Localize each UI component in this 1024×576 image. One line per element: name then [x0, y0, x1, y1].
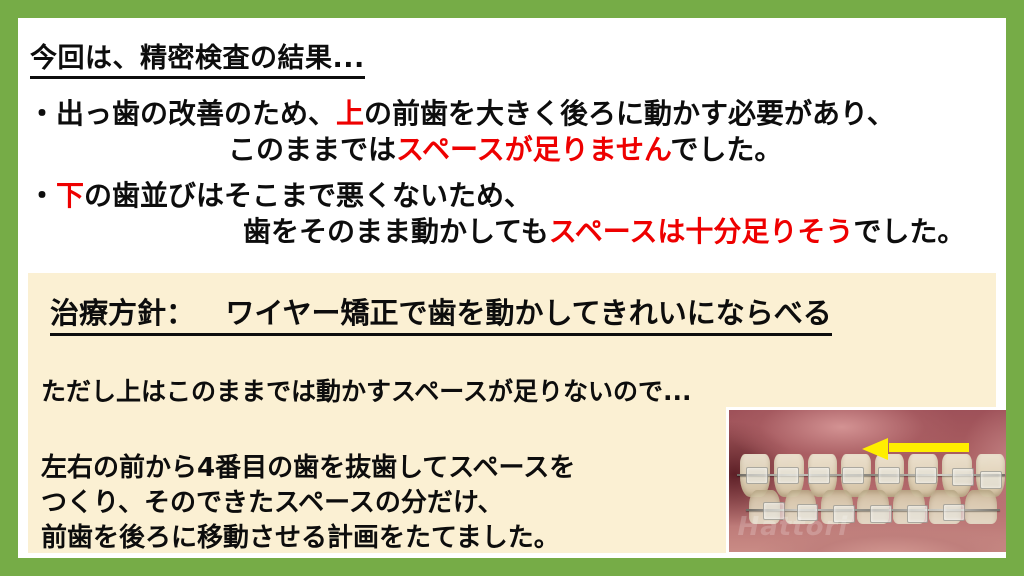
intraoral-photo: Hattori	[729, 410, 1006, 552]
bracket	[870, 505, 892, 523]
plan-line-2: つくり、そのできたスペースの分だけ、	[41, 486, 575, 521]
bullet-1-text-b: の前歯を大きく後ろに動かす必要があり、	[364, 97, 895, 130]
treatment-policy-value: ワイヤー矯正で歯を動かしてきれいにならべる	[225, 296, 831, 330]
bracket	[980, 471, 1002, 489]
plan-line-3: 前歯を後ろに移動させる計画をたてました。	[41, 521, 575, 556]
treatment-policy-label: 治療方針：	[50, 296, 195, 330]
bracket	[952, 468, 974, 486]
treatment-note: ただし上はこのままでは動かすスペースが足りないので...	[41, 372, 692, 408]
treatment-policy: 治療方針： ワイヤー矯正で歯を動かしてきれいにならべる	[50, 290, 832, 332]
bracket	[808, 467, 830, 485]
bullet-2-line-1: ・下の歯並びはそこまで悪くないため、	[28, 178, 965, 214]
bracket	[746, 467, 768, 485]
bullet-1-text-a: 出っ歯の改善のため、	[56, 97, 336, 130]
bullet-1-line2-b: でした。	[670, 133, 782, 166]
slide-root: 今回は、精密検査の結果... ・出っ歯の改善のため、上の前歯を大きく後ろに動かす…	[0, 0, 1024, 576]
bullet-item-1: ・出っ歯の改善のため、上の前歯を大きく後ろに動かす必要があり、 このままではスペ…	[28, 96, 895, 169]
intraoral-photo-frame: Hattori	[726, 407, 1006, 555]
direction-arrow-icon	[862, 438, 969, 456]
slide-canvas: 今回は、精密検査の結果... ・出っ歯の改善のため、上の前歯を大きく後ろに動かす…	[18, 18, 1006, 558]
plan-line-1: 左右の前から4番目の歯を抜歯してスペースを	[41, 451, 575, 486]
bracket	[777, 467, 799, 485]
bullet-2-highlight-lower: 下	[56, 179, 84, 212]
findings-section: 今回は、精密検査の結果... ・出っ歯の改善のため、上の前歯を大きく後ろに動かす…	[18, 18, 1006, 273]
bullet-1-line-2: このままではスペースが足りませんでした。	[28, 132, 895, 168]
bullet-2-line2-a: 歯をそのまま動かしても	[243, 215, 549, 248]
bullet-item-2: ・下の歯並びはそこまで悪くないため、 歯をそのまま動かしてもスペースは十分足りそ…	[28, 178, 965, 251]
bullet-2-text-b: の歯並びはそこまで悪くないため、	[84, 179, 532, 212]
page-title: 今回は、精密検査の結果...	[30, 36, 365, 75]
bracket	[907, 505, 929, 523]
tooth	[965, 490, 997, 524]
bracket	[842, 467, 864, 485]
page-title-text: 今回は、精密検査の結果...	[30, 43, 365, 79]
bullet-2-line-2: 歯をそのまま動かしてもスペースは十分足りそうでした。	[28, 214, 965, 250]
arrow-shaft	[889, 443, 968, 451]
bracket	[915, 467, 937, 485]
photo-watermark: Hattori	[737, 512, 848, 542]
treatment-plan-detail: 左右の前から4番目の歯を抜歯してスペースを つくり、そのできたスペースの分だけ、…	[41, 451, 575, 555]
bullet-1-highlight-upper: 上	[336, 97, 364, 130]
bracket	[943, 504, 965, 522]
bullet-2-marker: ・	[28, 179, 56, 212]
treatment-policy-inline: 治療方針： ワイヤー矯正で歯を動かしてきれいにならべる	[50, 296, 832, 336]
bullet-2-line2-highlight: スペースは十分足りそう	[549, 215, 854, 248]
bullet-1-line-1: ・出っ歯の改善のため、上の前歯を大きく後ろに動かす必要があり、	[28, 96, 895, 132]
bullet-1-line2-highlight: スペースが足りません	[396, 133, 670, 166]
bullet-2-line2-b: でした。	[853, 215, 965, 248]
bracket	[878, 467, 900, 485]
bullet-1-marker: ・	[28, 97, 56, 130]
bullet-1-line2-a: このままでは	[228, 133, 396, 166]
arrow-head	[862, 438, 888, 460]
